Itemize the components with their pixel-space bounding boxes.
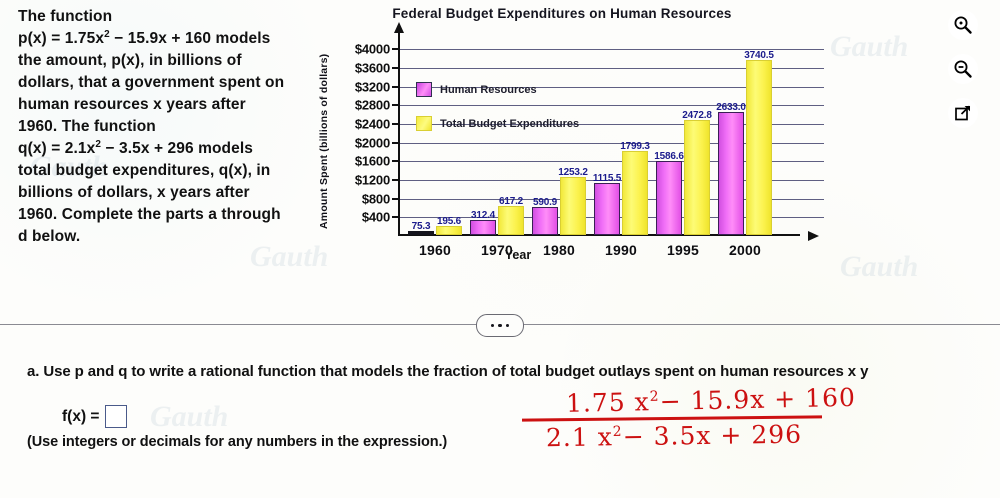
- y-axis-tick-label: $3600: [355, 61, 390, 76]
- q-function-prefix: q(x) = 2.1x: [18, 140, 95, 157]
- bar-value-label: 75.3: [412, 221, 431, 232]
- bar-chart-figure: Federal Budget Expenditures on Human Res…: [312, 2, 824, 280]
- answer-format-note: (Use integers or decimals for any number…: [27, 434, 447, 450]
- y-axis-tick: [392, 86, 400, 88]
- hw-num-exponent: 2: [649, 389, 659, 405]
- problem-line-p-function: p(x) = 1.75x2 − 15.9x + 160 models: [18, 28, 308, 49]
- ellipsis-dot-icon: [498, 324, 502, 328]
- x-axis-arrow: [808, 231, 819, 241]
- p-function-suffix: − 15.9x + 160 models: [110, 30, 271, 47]
- y-axis-tick-label: $2400: [355, 117, 390, 132]
- bar-value-label: 617.2: [499, 196, 523, 207]
- problem-line: billions of dollars, x years after: [18, 182, 308, 203]
- external-link-icon: [953, 103, 973, 123]
- bar-total-budget-expenditures-1970: [498, 206, 524, 235]
- answer-input-box[interactable]: [105, 405, 127, 428]
- zoom-out-icon: [953, 59, 973, 79]
- bar-human-resources-1970: [470, 220, 496, 235]
- y-axis-tick-label: $2000: [355, 135, 390, 150]
- y-axis-tick-label: $3200: [355, 79, 390, 94]
- y-axis-line: [398, 32, 400, 236]
- legend-swatch-total-budget-icon: [416, 116, 432, 131]
- y-axis-tick: [392, 48, 400, 50]
- problem-line-q-function: q(x) = 2.1x2 − 3.5x + 296 models: [18, 138, 308, 159]
- handwritten-numerator: 1.75 x2− 15.9x + 160: [540, 383, 871, 419]
- bar-value-label: 312.4: [471, 210, 495, 221]
- watermark: Gauth: [840, 250, 918, 284]
- bar-human-resources-2000: [718, 112, 744, 235]
- bar-value-label: 1253.2: [558, 167, 587, 178]
- hw-num-a: 1.75 x: [566, 387, 650, 418]
- y-axis-tick: [392, 216, 400, 218]
- bar-value-label: 2472.8: [682, 110, 711, 121]
- y-axis-tick-label: $400: [362, 210, 390, 225]
- x-axis-tick-label: 2000: [729, 242, 761, 258]
- bar-total-budget-expenditures-2000: [746, 60, 772, 235]
- x-axis-title: Year: [312, 248, 724, 262]
- answer-row: f(x) =: [62, 405, 127, 428]
- hw-den-exponent: 2: [613, 423, 623, 439]
- chart-plot-area: $400$800$1200$1600$2000$2400$2800$3200$3…: [398, 32, 810, 240]
- bar-total-budget-expenditures-1960: [436, 226, 462, 235]
- y-axis-tick: [392, 104, 400, 106]
- bar-human-resources-1990: [594, 183, 620, 235]
- part-a-question: a. Use p and q to write a rational funct…: [27, 362, 992, 381]
- handwritten-answer: 1.75 x2− 15.9x + 160 2.1 x2− 3.5x + 296: [540, 386, 870, 450]
- bar-value-label: 1799.3: [620, 141, 649, 152]
- bar-total-budget-expenditures-1990: [622, 151, 648, 235]
- y-axis-tick: [392, 123, 400, 125]
- open-in-new-window-button[interactable]: [948, 98, 978, 128]
- bar-value-label: 590.9: [533, 197, 557, 208]
- bar-value-label: 2633.0: [716, 102, 745, 113]
- y-axis-title: Amount Spent (billions of dollars): [318, 36, 334, 246]
- hw-den-b: − 3.5x + 296: [623, 419, 803, 451]
- watermark: Gauth: [830, 30, 908, 64]
- legend-item-total-budget: Total Budget Expenditures: [416, 116, 579, 131]
- ellipsis-dot-icon: [506, 324, 510, 328]
- bar-total-budget-expenditures-1995: [684, 120, 710, 235]
- y-axis-tick: [392, 198, 400, 200]
- y-axis-tick-label: $2800: [355, 98, 390, 113]
- y-axis-tick-label: $1600: [355, 154, 390, 169]
- bar-human-resources-1995: [656, 161, 682, 235]
- problem-statement: The function p(x) = 1.75x2 − 15.9x + 160…: [18, 6, 308, 248]
- legend-label: Total Budget Expenditures: [440, 118, 579, 130]
- problem-line: d below.: [18, 226, 308, 247]
- y-axis-tick-label: $4000: [355, 42, 390, 57]
- y-axis-tick: [392, 160, 400, 162]
- y-axis-tick-label: $1200: [355, 173, 390, 188]
- hw-den-a: 2.1 x: [546, 422, 613, 452]
- problem-line: total budget expenditures, q(x), in: [18, 160, 308, 181]
- bar-value-label: 1115.5: [593, 173, 621, 184]
- ellipsis-dot-icon: [491, 324, 495, 328]
- legend-label: Human Resources: [440, 84, 537, 96]
- y-axis-tick: [392, 179, 400, 181]
- zoom-out-button[interactable]: [948, 54, 978, 84]
- section-divider: [0, 308, 1000, 342]
- chart-tool-rail: [948, 10, 982, 142]
- problem-line: 1960. Complete the parts a through: [18, 204, 308, 225]
- fx-label: f(x) =: [62, 408, 99, 426]
- problem-line: human resources x years after: [18, 94, 308, 115]
- problem-line: dollars, that a government spent on: [18, 72, 308, 93]
- bar-human-resources-1980: [532, 207, 558, 235]
- handwritten-denominator: 2.1 x2− 3.5x + 296: [540, 418, 870, 452]
- chart-title: Federal Budget Expenditures on Human Res…: [312, 6, 812, 21]
- p-function-prefix: p(x) = 1.75x: [18, 30, 104, 47]
- watermark: Gauth: [150, 400, 228, 434]
- zoom-in-button[interactable]: [948, 10, 978, 40]
- bar-total-budget-expenditures-1980: [560, 177, 586, 235]
- y-axis-tick-label: $800: [362, 191, 390, 206]
- legend-swatch-human-resources-icon: [416, 82, 432, 97]
- hw-num-b: − 15.9x + 160: [659, 383, 856, 416]
- bar-value-label: 1586.6: [654, 151, 683, 162]
- y-axis-tick: [392, 67, 400, 69]
- y-axis-arrow: [394, 22, 404, 33]
- q-function-suffix: − 3.5x + 296 models: [101, 140, 253, 157]
- bar-value-label: 195.6: [437, 216, 461, 227]
- bar-value-label: 3740.5: [744, 50, 773, 61]
- zoom-in-icon: [953, 15, 973, 35]
- y-axis-tick: [392, 142, 400, 144]
- legend-item-human-resources: Human Resources: [416, 82, 537, 97]
- problem-line: The function: [18, 6, 308, 27]
- problem-line: the amount, p(x), in billions of: [18, 50, 308, 71]
- more-options-button[interactable]: [476, 314, 524, 337]
- problem-line: 1960. The function: [18, 116, 308, 137]
